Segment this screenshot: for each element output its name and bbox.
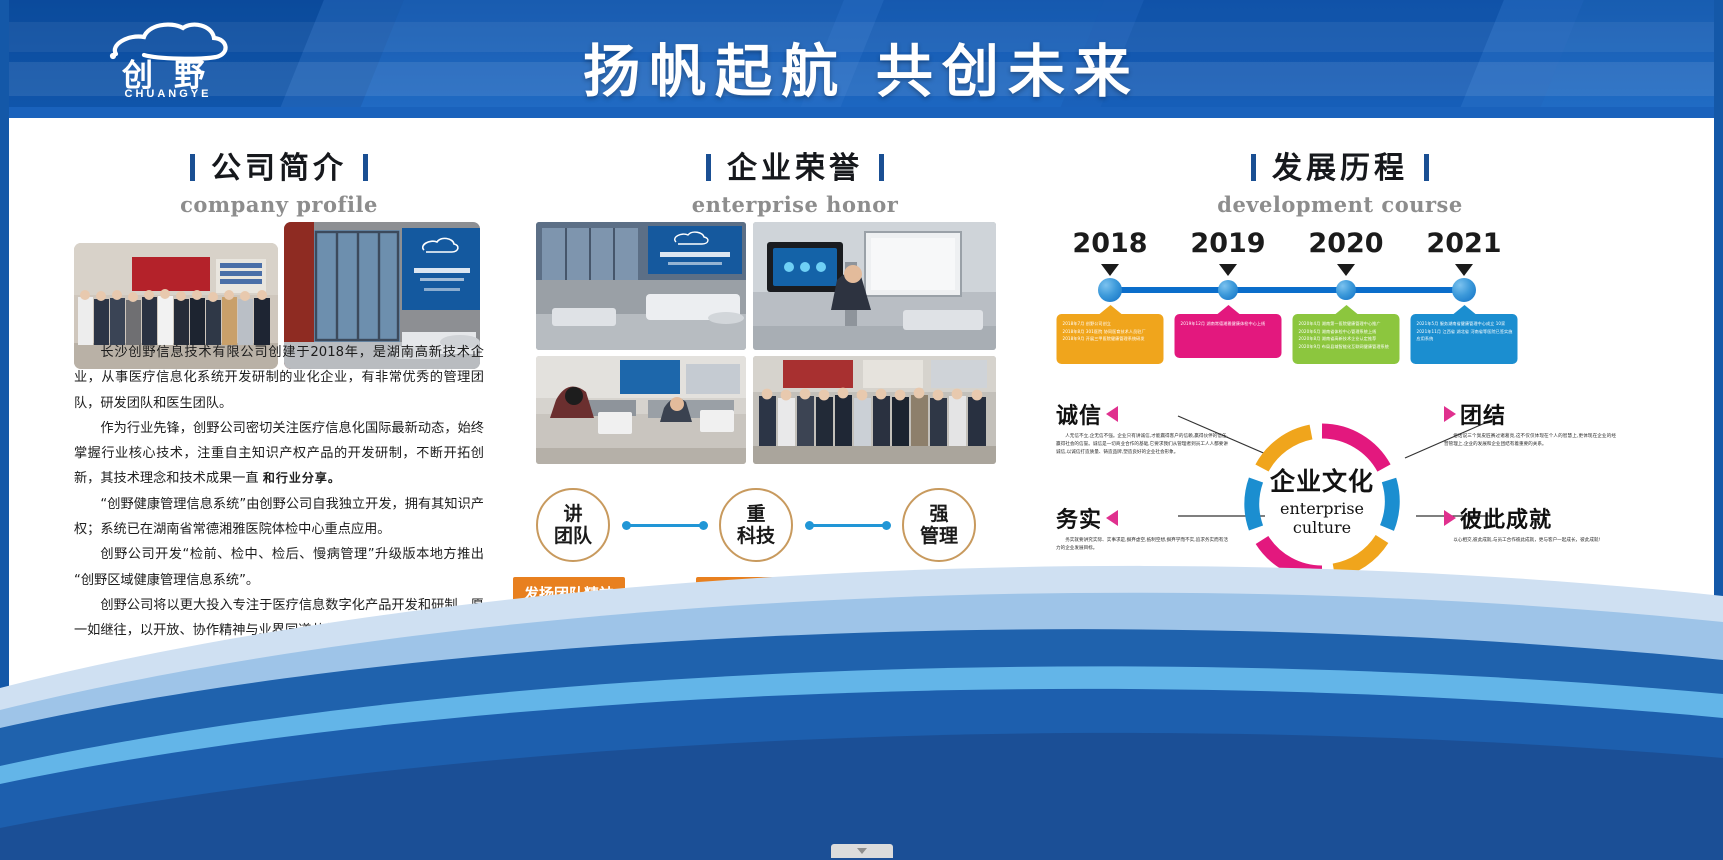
culture-quadrant-unity: 团结 俗话说三个臭皮匠赛过诸葛亮,这不仅仅体现在个人的智慧上,更体现在企业的经营… (1444, 398, 1616, 449)
timeline-pointer-icon (1101, 264, 1119, 276)
title-bar-right (1424, 154, 1429, 181)
title-bar-right (363, 154, 368, 181)
timeline-year-2019: 2019 (1190, 228, 1265, 259)
flow-circle-line2: 团队 (554, 525, 592, 547)
section-title-en-honor: enterprise honor (595, 192, 995, 217)
card-notch (1099, 305, 1121, 314)
title-bar-right (879, 154, 884, 181)
flow-circle-1: 讲 团队 (536, 488, 610, 562)
section-title-en-course: development course (1090, 192, 1590, 217)
section-title-cn-honor: 企业荣誉 (595, 143, 995, 187)
flow-circle-line1: 重 (737, 503, 775, 525)
arrow-right-icon (1444, 510, 1456, 526)
timeline-event: 2018年9月 开展三甲医院健康管理系统研发 (1063, 335, 1159, 343)
timeline-node-2018 (1098, 278, 1122, 302)
flow-circle-line1: 讲 (554, 503, 592, 525)
poster-canvas: 创 野 CHUANGYE 扬帆起航 共创未来 公司简介 company prof… (0, 0, 1723, 860)
profile-handwritten-note: 和行业分享。 (263, 471, 341, 485)
culture-quadrant-integrity: 诚信 人无信不立,企无信不强。企业只有讲诚信,才能赢得客户的信赖,赢得伙伴的信任… (1056, 398, 1228, 458)
banner-title: 扬帆起航 共创未来 (0, 26, 1723, 108)
culture-quadrant-text: 人无信不立,企无信不强。企业只有讲诚信,才能赢得客户的信赖,赢得伙伴的信任,赢得… (1056, 433, 1228, 458)
timeline-pointer-icon (1219, 264, 1237, 276)
flow-circle-line2: 科技 (737, 525, 775, 547)
timeline-year-2020: 2020 (1308, 228, 1383, 259)
flow-circle-3: 强 管理 (902, 488, 976, 562)
development-timeline: 2018 2019 2020 2021 2018年7月 创野公司创立 2018年… (1055, 228, 1525, 368)
culture-quadrant-text: 以心相交,彼此成就,与员工合作彼此成就，更与客户一起成长，彼此成就! (1444, 537, 1616, 545)
profile-paragraph: “创野健康管理信息系统”由创野公司自我独立开发，拥有其知识产权；系统已在湖南省常… (74, 492, 484, 543)
section-title-en-profile: company profile (74, 192, 484, 217)
section-title-cn-course: 发展历程 (1090, 143, 1590, 187)
title-bar-left (1251, 154, 1256, 181)
culture-quadrant-title: 务实 (1056, 502, 1102, 534)
footer-wave-decoration (0, 560, 1723, 860)
culture-center-en2: culture (1238, 518, 1406, 537)
timeline-event: 2021年11月 江西省 湖北省 河南省等医院已签实施应用系统 (1417, 328, 1513, 343)
flow-circle-line1: 强 (920, 503, 958, 525)
flow-circle-line2: 管理 (920, 525, 958, 547)
honor-photo-presentation (753, 222, 996, 350)
title-bar-left (190, 154, 195, 181)
timeline-node-2020 (1336, 280, 1356, 300)
title-bar-left (706, 154, 711, 181)
section-heading-course: 发展历程 development course (1090, 143, 1590, 217)
timeline-card-2020: 2020年4月 湖南第一医院健康管理中心推广 2020年6月 湖南省体检中心管理… (1293, 314, 1400, 364)
culture-quadrant-title: 团结 (1460, 398, 1506, 430)
timeline-event: 2020年4月 湖南第一医院健康管理中心推广 (1299, 320, 1395, 328)
scroll-down-hint[interactable] (831, 844, 893, 858)
timeline-axis (1110, 287, 1465, 293)
timeline-event: 2020年6月 湖南省体检中心管理系统上线 (1299, 328, 1395, 336)
flow-circle-2: 重 科技 (719, 488, 793, 562)
culture-quadrant-pragmatic: 务实 务实就要讲究实际、实事求是,摒弃虚空,抵制空想,摒弃学而不实,追求务实而有… (1056, 502, 1228, 553)
timeline-node-2021 (1452, 278, 1476, 302)
section-heading-honor: 企业荣誉 enterprise honor (595, 143, 995, 217)
culture-center-cn: 企业文化 (1238, 462, 1406, 498)
section-heading-profile: 公司简介 company profile (74, 143, 484, 217)
flow-connector-1 (626, 524, 704, 527)
timeline-card-2018: 2018年7月 创野公司创立 2018年8月 301医院 协同医育技术人员驻厂 … (1057, 314, 1164, 364)
honor-photo-group (753, 356, 996, 464)
arrow-right-icon (1444, 406, 1456, 422)
arrow-left-icon (1106, 406, 1118, 422)
culture-center-en1: enterprise (1238, 499, 1406, 518)
culture-quadrant-text: 俗话说三个臭皮匠赛过诸葛亮,这不仅仅体现在个人的智慧上,更体现在企业的经营管理上… (1444, 433, 1616, 449)
timeline-card-2021: 2021年5月 服务湖南省健康管理中心成立 10家 2021年11月 江西省 湖… (1411, 314, 1518, 364)
timeline-card-2019: 2019年12月 湖南常德湘雅健康体检中心上线 (1175, 314, 1282, 358)
timeline-year-2021: 2021 (1426, 228, 1501, 259)
timeline-event: 2018年7月 创野公司创立 (1063, 320, 1159, 328)
culture-quadrant-title: 诚信 (1056, 398, 1102, 430)
section-title-cn-profile: 公司简介 (74, 143, 484, 187)
arrow-left-icon (1106, 510, 1118, 526)
timeline-node-2019 (1218, 280, 1238, 300)
header-banner: 创 野 CHUANGYE 扬帆起航 共创未来 (0, 0, 1723, 118)
timeline-pointer-icon (1337, 264, 1355, 276)
banner-base-strip (0, 107, 1723, 118)
timeline-year-2018: 2018 (1072, 228, 1147, 259)
chevron-down-icon (857, 848, 867, 854)
card-notch (1217, 305, 1239, 314)
culture-quadrant-mutual: 彼此成就 以心相交,彼此成就,与员工合作彼此成就，更与客户一起成长，彼此成就! (1444, 502, 1616, 545)
timeline-event: 2018年8月 301医院 协同医育技术人员驻厂 (1063, 328, 1159, 336)
timeline-event: 2020年8月 湖南省高新技术企业认定推荐 (1299, 335, 1395, 343)
timeline-event: 2021年5月 服务湖南省健康管理中心成立 10家 (1417, 320, 1513, 328)
card-notch (1453, 305, 1475, 314)
culture-quadrant-text: 务实就要讲究实际、实事求是,摒弃虚空,抵制空想,摒弃学而不实,追求务实而有活力的… (1056, 537, 1228, 553)
profile-paragraph: 长沙创野信息技术有限公司创建于2018年，是湖南高新技术企业，从事医疗信息化系统… (74, 340, 484, 416)
honor-photo-office-sofa (536, 222, 746, 350)
culture-center-label: 企业文化 enterprise culture (1238, 462, 1406, 537)
timeline-event: 2019年12月 湖南常德湘雅健康体检中心上线 (1181, 320, 1277, 328)
honor-photo-workspace (536, 356, 746, 464)
card-notch (1335, 305, 1357, 314)
profile-paragraph: 作为行业先锋，创野公司密切关注医疗信息化国际最新动态，始终掌握行业核心技术，注重… (74, 416, 484, 492)
culture-quadrant-title: 彼此成就 (1460, 502, 1552, 534)
flow-connector-2 (809, 524, 887, 527)
timeline-event: 2020年9月 布局县域智能化互联网健康管理系统 (1299, 343, 1395, 351)
timeline-pointer-icon (1455, 264, 1473, 276)
